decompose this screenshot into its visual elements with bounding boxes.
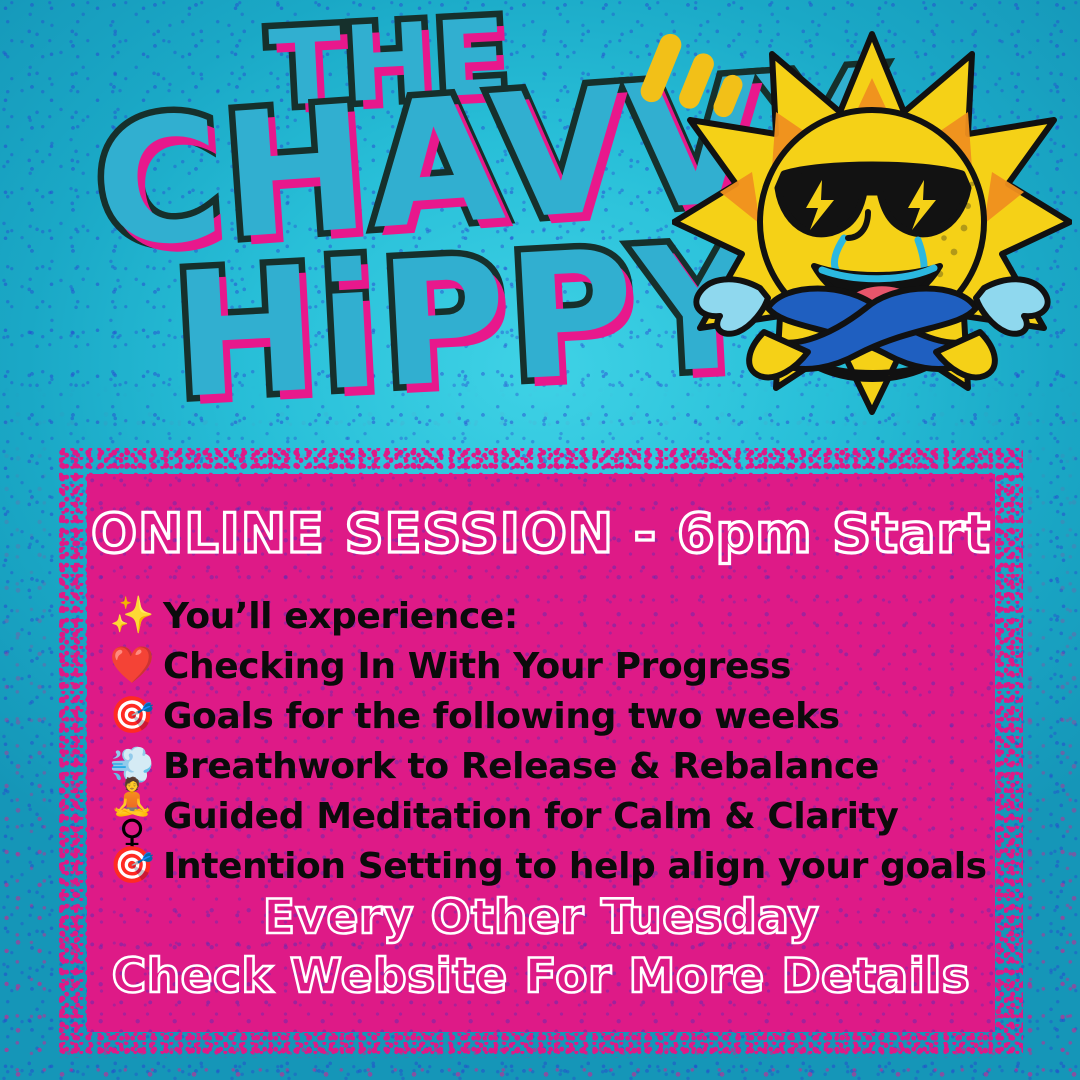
list-item: 🧘♀ Guided Meditation for Calm & Clarity (101, 792, 985, 840)
sun-mascot-icon (672, 16, 1072, 426)
list-item: ✨ You’ll experience: (101, 592, 985, 640)
list-item-label: Checking In With Your Progress (163, 646, 791, 687)
panel-footer: Every Other Tuesday Check Website For Mo… (87, 888, 995, 1006)
list-item: 🎯 Intention Setting to help align your g… (101, 842, 985, 890)
list-item-label: Breathwork to Release & Rebalance (163, 746, 879, 787)
session-info-panel: ONLINE SESSION - 6pm Start ✨ You’ll expe… (87, 474, 995, 1032)
list-item-label: Goals for the following two weeks (163, 696, 840, 737)
dart-target-icon: 🎯 (101, 698, 163, 734)
list-item-label: You’ll experience: (163, 596, 518, 637)
list-item-label: Guided Meditation for Calm & Clarity (163, 796, 898, 837)
brand-logo: THE CHAVVY HiPPY (88, 8, 708, 418)
promo-poster: THE CHAVVY HiPPY (0, 0, 1080, 1080)
list-item: 💨 Breathwork to Release & Rebalance (101, 742, 985, 790)
woman-meditating-icon: 🧘♀ (101, 780, 163, 852)
list-item: 🎯 Goals for the following two weeks (101, 692, 985, 740)
beating-heart-icon: ❤️ (101, 648, 163, 684)
dart-target-icon: 🎯 (101, 848, 163, 884)
panel-title: ONLINE SESSION - 6pm Start (87, 502, 995, 565)
footer-website-line: Check Website For More Details (87, 947, 995, 1006)
list-item: ❤️ Checking In With Your Progress (101, 642, 985, 690)
footer-schedule-line: Every Other Tuesday (87, 888, 995, 947)
list-item-label: Intention Setting to help align your goa… (163, 846, 987, 887)
sun-mascot (672, 16, 1072, 426)
experience-list: ✨ You’ll experience: ❤️ Checking In With… (101, 592, 985, 892)
sparkles-icon: ✨ (101, 598, 163, 634)
